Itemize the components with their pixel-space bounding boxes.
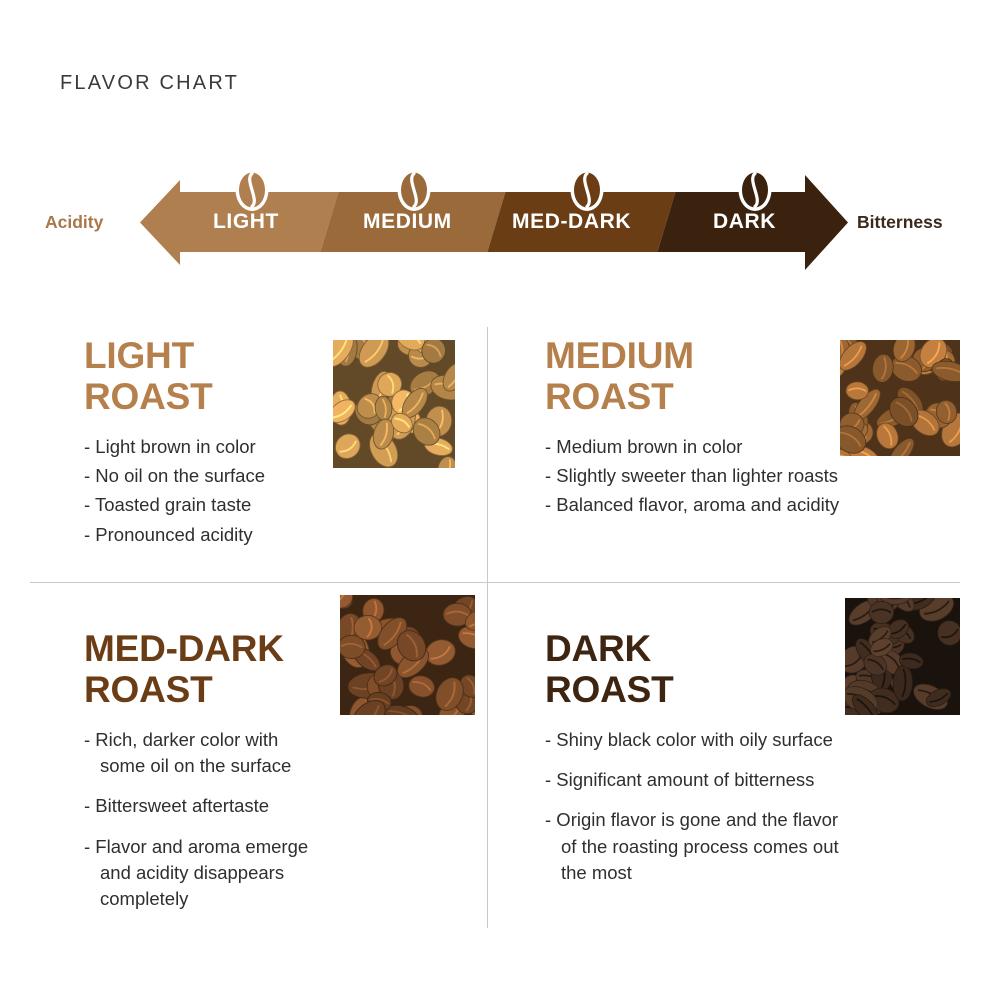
medium-roast-beans-photo <box>840 340 960 456</box>
list-item: - Balanced flavor, aroma and acidity <box>545 492 945 518</box>
coffee-bean-icon <box>236 169 269 211</box>
light-roast-beans-photo <box>333 340 455 468</box>
acidity-axis-label: Acidity <box>45 212 103 233</box>
bitterness-axis-label: Bitterness <box>857 212 943 233</box>
scale-band-label-medium[interactable]: MEDIUM <box>363 210 452 234</box>
vertical-divider <box>487 327 488 928</box>
med-dark-roast-bullet-list: - Rich, darker color with some oil on th… <box>84 727 464 913</box>
scale-band-label-dark[interactable]: DARK <box>713 210 776 234</box>
roast-scale <box>0 160 1001 275</box>
list-item: - Rich, darker color with some oil on th… <box>84 727 464 780</box>
scale-band-label-med-dark[interactable]: MED-DARK <box>512 210 631 234</box>
roast-scale-arrow <box>0 160 1001 275</box>
list-item: - Significant amount of bitterness <box>545 767 945 793</box>
list-item: - Toasted grain taste <box>84 492 444 518</box>
coffee-bean-icon <box>571 169 604 211</box>
page-title: FLAVOR CHART <box>60 72 239 95</box>
coffee-bean-icon <box>398 169 431 211</box>
horizontal-divider <box>30 582 960 583</box>
scale-band-label-light[interactable]: LIGHT <box>213 210 279 234</box>
dark-roast-bullet-list: - Shiny black color with oily surface - … <box>545 727 945 886</box>
list-item: - Bittersweet aftertaste <box>84 793 464 819</box>
list-item: - Shiny black color with oily surface <box>545 727 945 753</box>
med-dark-roast-beans-photo <box>340 595 475 715</box>
dark-roast-beans-photo <box>845 598 960 715</box>
coffee-bean-icon <box>739 169 772 211</box>
list-item: - Pronounced acidity <box>84 522 444 548</box>
list-item: - Origin flavor is gone and the flavor o… <box>545 807 945 886</box>
list-item: - Flavor and aroma emerge and acidity di… <box>84 834 464 913</box>
list-item: - Slightly sweeter than lighter roasts <box>545 463 945 489</box>
